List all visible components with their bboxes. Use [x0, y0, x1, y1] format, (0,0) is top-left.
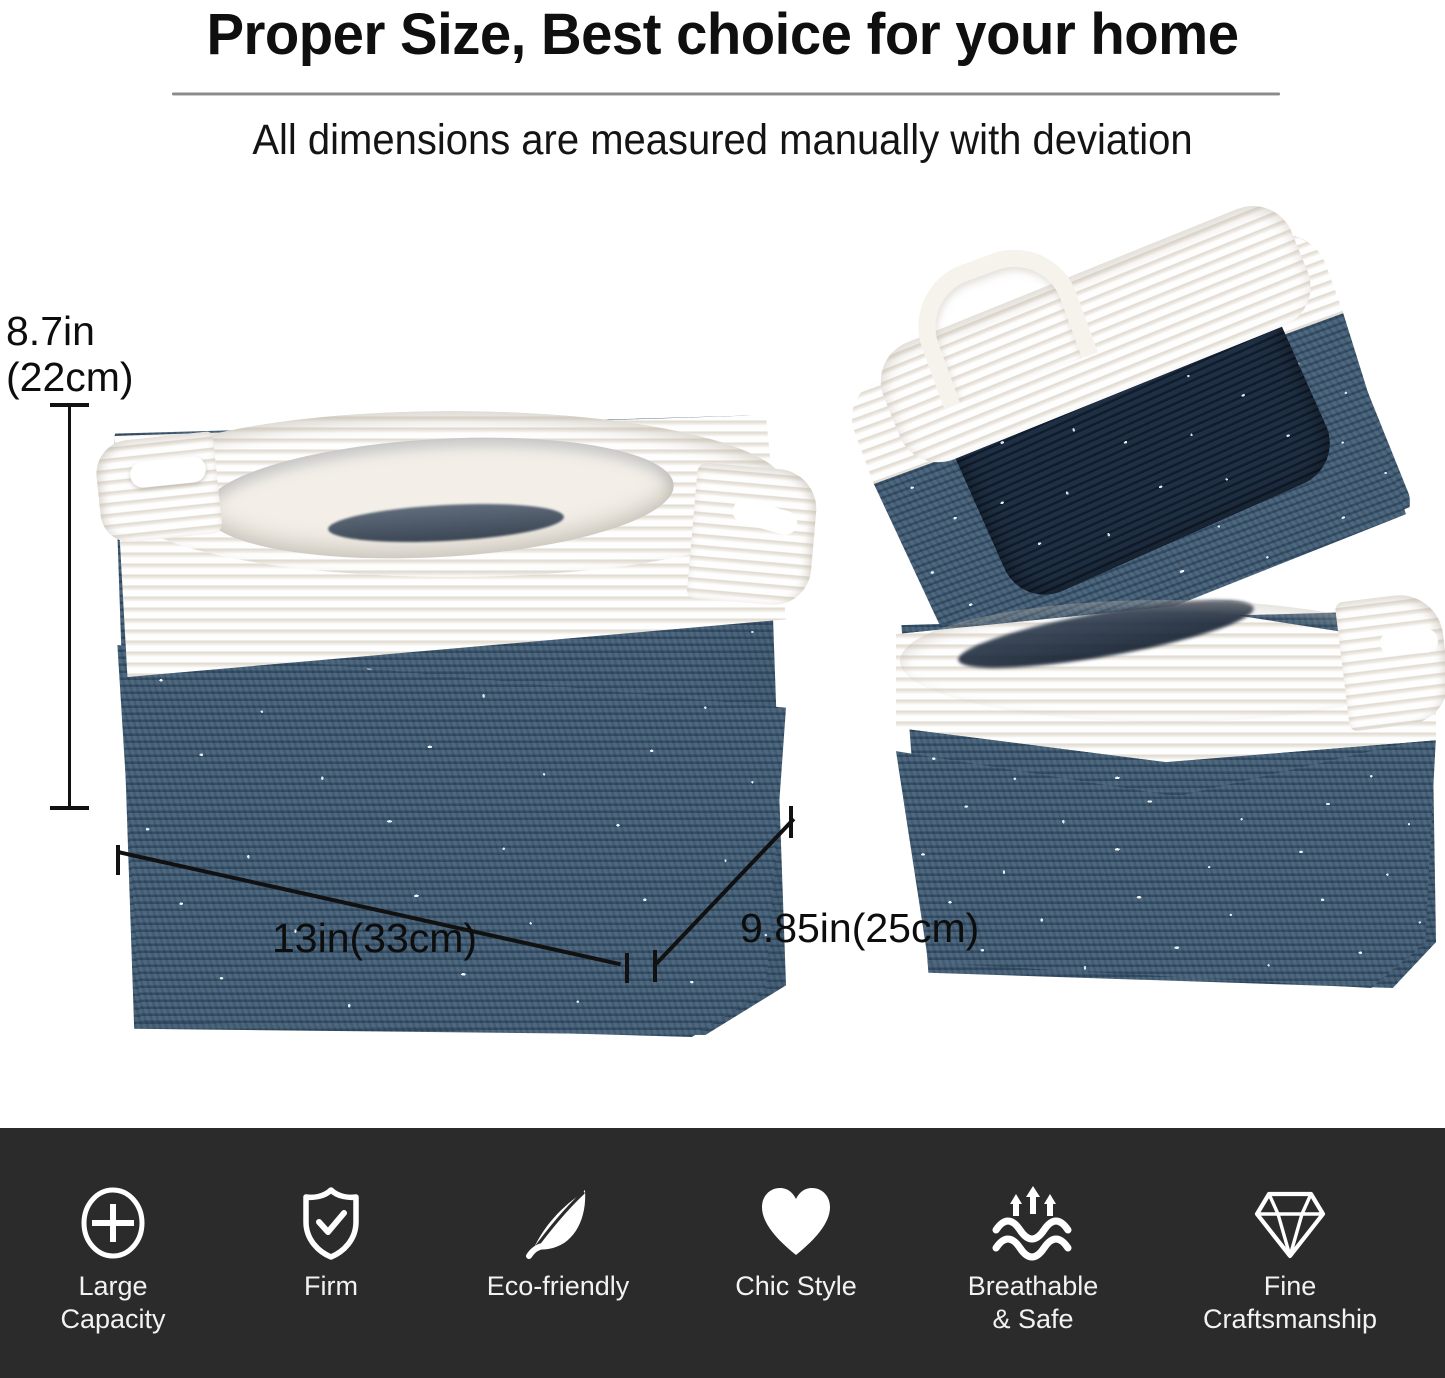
feature-label-chic-style: Chic Style [693, 1270, 899, 1303]
height-tick-top [50, 403, 89, 407]
breathable-waves-icon [930, 1184, 1136, 1262]
shield-check-icon [228, 1184, 434, 1262]
basket-lower-handle-right-opening [1379, 628, 1439, 656]
feature-item-fine-craftsmanship: Fine Craftsmanship [1165, 1184, 1415, 1336]
width-dimension-label: 13in(33cm) [272, 915, 477, 962]
leaf-icon [455, 1184, 661, 1262]
feature-item-eco-friendly: Eco-friendly [455, 1184, 661, 1303]
feature-label-breathable-safe: Breathable & Safe [930, 1270, 1136, 1336]
feature-label-large-capacity: Large Capacity [10, 1270, 216, 1336]
feature-label-fine-craftsmanship: Fine Craftsmanship [1165, 1270, 1415, 1336]
feature-label-eco-friendly: Eco-friendly [455, 1270, 661, 1303]
width-tick-left [116, 845, 120, 875]
feature-item-large-capacity: Large Capacity [10, 1184, 216, 1336]
feature-item-breathable-safe: Breathable & Safe [930, 1184, 1136, 1336]
product-photo-stage [0, 180, 1445, 1128]
basket-handle-right [686, 462, 819, 608]
depth-tick-top [789, 806, 793, 838]
feature-label-firm: Firm [228, 1270, 434, 1303]
depth-dimension-label: 9.85in(25cm) [740, 905, 979, 952]
feature-list: Large Capacity Firm [0, 1128, 1445, 1378]
feature-item-firm: Firm [228, 1184, 434, 1303]
height-dimension-line [68, 404, 71, 810]
page-subtitle: All dimensions are measured manually wit… [51, 114, 1395, 166]
basket-lower-handle-right [1334, 590, 1445, 732]
header-divider [172, 92, 1280, 96]
plus-circle-icon [10, 1184, 216, 1262]
product-infographic-page: Proper Size, Best choice for your home A… [0, 0, 1445, 1378]
depth-tick-bottom [653, 950, 657, 982]
page-title: Proper Size, Best choice for your home [22, 2, 1424, 68]
height-dimension-label: 8.7in (22cm) [6, 308, 134, 400]
feature-item-chic-style: Chic Style [693, 1184, 899, 1303]
heart-icon [693, 1184, 899, 1262]
height-label-line1: 8.7in [6, 308, 134, 354]
height-label-line2: (22cm) [6, 354, 134, 400]
basket-handle-left [93, 431, 223, 545]
width-tick-right [625, 953, 629, 983]
diamond-icon [1165, 1184, 1415, 1262]
basket-blue-band [114, 645, 786, 1037]
height-tick-bottom [50, 806, 89, 810]
feature-bar: Large Capacity Firm [0, 1128, 1445, 1378]
